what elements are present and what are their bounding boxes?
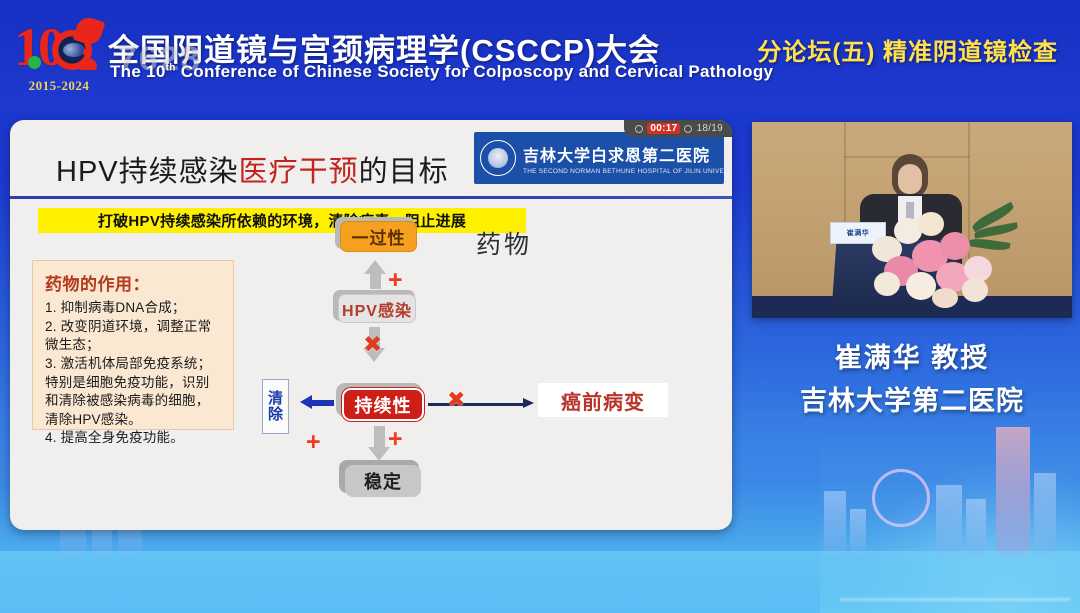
- speaker-face: [898, 164, 922, 194]
- logo-person-icon: [78, 48, 96, 70]
- flower: [962, 278, 988, 302]
- arrow-down-stem-2: [374, 426, 385, 448]
- slide-title: HPV持续感染医疗干预的目标: [56, 148, 449, 190]
- arrow-down-head-2: [368, 447, 390, 461]
- flow-node-persistent: 持续性: [342, 388, 424, 421]
- ferris-wheel-icon: [872, 469, 930, 527]
- hospital-logo: 吉林大学白求恩第二医院 THE SECOND NORMAN BETHUNE HO…: [474, 132, 724, 184]
- building-shape: [936, 485, 962, 557]
- presentation-slide[interactable]: 00:17 18/19 HPV持续感染医疗干预的目标 吉林大学白求恩第二医院 T…: [10, 120, 732, 530]
- building-shape: [850, 509, 866, 557]
- cross-mark-icon: ✖: [363, 333, 382, 356]
- drug-box-line: 3. 激活机体局部免疫系统；: [45, 355, 223, 374]
- drug-box-line: 和清除被感染病毒的细胞，: [45, 392, 223, 411]
- clearance-char-2: 除: [268, 407, 283, 423]
- conference-title-en: The 10th Conference of Chinese Society f…: [110, 62, 773, 82]
- flow-node-stable: 稳定: [345, 465, 421, 497]
- precancer-arrow-icon: [428, 401, 534, 408]
- flower: [932, 288, 958, 308]
- title-divider: [10, 196, 732, 199]
- flower: [874, 272, 900, 296]
- clearance-char-1: 清: [268, 391, 283, 407]
- hospital-name-en: THE SECOND NORMAN BETHUNE HOSPITAL OF JI…: [523, 168, 732, 175]
- drug-box-line: 1. 抑制病毒DNA合成；: [45, 299, 223, 318]
- building-shape: [1034, 473, 1056, 557]
- speaker-caption: 崔满华 教授 吉林大学第二医院: [752, 336, 1072, 418]
- conference-header: 10 2015-2024 全国阴道镜与宫颈病理学(CSCCP)大会 7628 T…: [0, 0, 1080, 110]
- flow-node-clearance: 清 除: [262, 379, 289, 434]
- speaker-name: 崔满华 教授: [752, 336, 1072, 375]
- slide-title-part1: HPV持续感染: [56, 156, 239, 188]
- title-en-sup: th: [166, 62, 176, 73]
- slide-highlight-banner: 打破HPV持续感染所依赖的环境，清除病毒，阻止进展: [38, 208, 526, 233]
- drug-box-line: 清除HPV感染。: [45, 411, 223, 430]
- flow-drug-label: 药物: [476, 225, 532, 261]
- leaf: [968, 237, 1011, 252]
- flow-node-hpv-infection: HPV感染: [338, 294, 416, 323]
- anniversary-logo: 10 2015-2024: [8, 12, 108, 100]
- building-shape: [824, 491, 846, 557]
- timer-badge: 00:17 18/19: [624, 120, 732, 137]
- slide-page-indicator: 18/19: [696, 123, 723, 134]
- drug-box-line: 特别是细胞免疫功能，识别: [45, 374, 223, 393]
- water-reflection: [0, 551, 1080, 613]
- speaker-affiliation: 吉林大学第二医院: [752, 379, 1072, 418]
- broadcast-screen: 10 2015-2024 全国阴道镜与宫颈病理学(CSCCP)大会 7628 T…: [0, 0, 1080, 613]
- session-title: 分论坛(五) 精准阴道镜检查: [757, 32, 1058, 67]
- flower: [918, 212, 944, 236]
- slide-title-highlight: 医疗干预: [239, 156, 359, 188]
- clearance-arrow-icon: [300, 398, 334, 407]
- logo-dot-icon: [28, 56, 41, 69]
- drug-box-line: 2. 改变阴道环境，调整正常: [45, 318, 223, 337]
- building-shape: [966, 499, 986, 557]
- plus-sign-icon: +: [306, 430, 321, 455]
- title-en-pre: The 10: [110, 62, 166, 81]
- drug-box-heading: 药物的作用：: [45, 270, 223, 295]
- flower: [940, 232, 970, 260]
- plus-sign-icon: +: [388, 427, 403, 452]
- anniversary-years: 2015-2024: [10, 78, 108, 94]
- flow-node-transient: 一过性: [340, 221, 417, 252]
- drug-box-line: 微生态；: [45, 336, 223, 355]
- pages-icon: [684, 125, 692, 133]
- clock-icon: [635, 125, 643, 133]
- cross-mark-icon: ✖: [447, 389, 465, 411]
- hospital-seal-icon: [480, 140, 516, 176]
- slide-title-part2: 的目标: [359, 156, 449, 188]
- flow-node-precancer: 癌前病变: [538, 383, 668, 417]
- building-shape-tall: [996, 427, 1030, 557]
- hospital-name-cn: 吉林大学白求恩第二医院: [523, 142, 732, 166]
- flower-bouquet: [870, 210, 1010, 308]
- speaker-video-feed[interactable]: 崔满华: [752, 122, 1072, 318]
- arrow-up-stem: [370, 273, 381, 289]
- drug-box-line: 4. 提高全身免疫功能。: [45, 429, 223, 448]
- arrow-up-head: [364, 260, 386, 274]
- title-en-post: Conference of Chinese Society for Colpos…: [176, 62, 774, 81]
- timer-value: 00:17: [647, 123, 680, 134]
- drug-action-box: 药物的作用： 1. 抑制病毒DNA合成； 2. 改变阴道环境，调整正常 微生态；…: [32, 260, 234, 430]
